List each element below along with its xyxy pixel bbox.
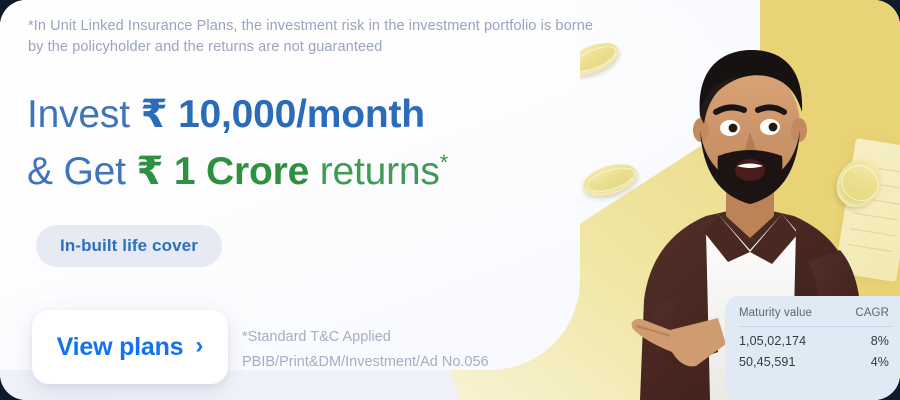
view-plans-button[interactable]: View plans ›	[32, 310, 228, 384]
fineprint-block: *Standard T&C Applied PBIB/Print&DM/Inve…	[242, 325, 522, 375]
table-row: 1,05,02,174 8%	[739, 327, 891, 349]
fineprint-line-2: PBIB/Print&DM/Investment/Ad No.056	[242, 350, 522, 375]
promo-banner: *In Unit Linked Insurance Plans, the inv…	[0, 0, 900, 400]
headline-line2-tail: returns	[320, 150, 440, 193]
maturity-table-card: Maturity value CAGR 1,05,02,174 8% 50,45…	[725, 296, 900, 400]
chevron-right-icon: ›	[195, 334, 203, 358]
headline-line-2: & Get ₹ 1 Crore returns*	[27, 143, 667, 200]
table-header-row: Maturity value CAGR	[739, 307, 891, 327]
view-plans-label: View plans	[57, 333, 184, 362]
cell-cagr: 4%	[841, 348, 891, 369]
headline-line2-lead: & Get	[27, 150, 126, 193]
cell-maturity-value: 50,45,591	[739, 348, 841, 369]
headline-line1-amount: ₹ 10,000/month	[141, 93, 425, 136]
page-title: Invest ₹ 10,000/month & Get ₹ 1 Crore re…	[27, 86, 667, 200]
column-header-cagr: CAGR	[841, 307, 891, 327]
column-header-maturity-value: Maturity value	[739, 307, 841, 327]
top-disclaimer-text: *In Unit Linked Insurance Plans, the inv…	[28, 16, 608, 58]
fineprint-line-1: *Standard T&C Applied	[242, 325, 522, 350]
headline-line1-lead: Invest	[27, 93, 130, 136]
cell-cagr: 8%	[841, 327, 891, 349]
headline-line2-amount: ₹ 1 Crore	[136, 150, 309, 193]
cell-maturity-value: 1,05,02,174	[739, 327, 841, 349]
headline-line-1: Invest ₹ 10,000/month	[27, 86, 667, 143]
status-badge: In-built life cover	[36, 225, 222, 267]
maturity-table: Maturity value CAGR 1,05,02,174 8% 50,45…	[739, 307, 891, 369]
headline-asterisk: *	[440, 150, 448, 175]
table-row: 50,45,591 4%	[739, 348, 891, 369]
